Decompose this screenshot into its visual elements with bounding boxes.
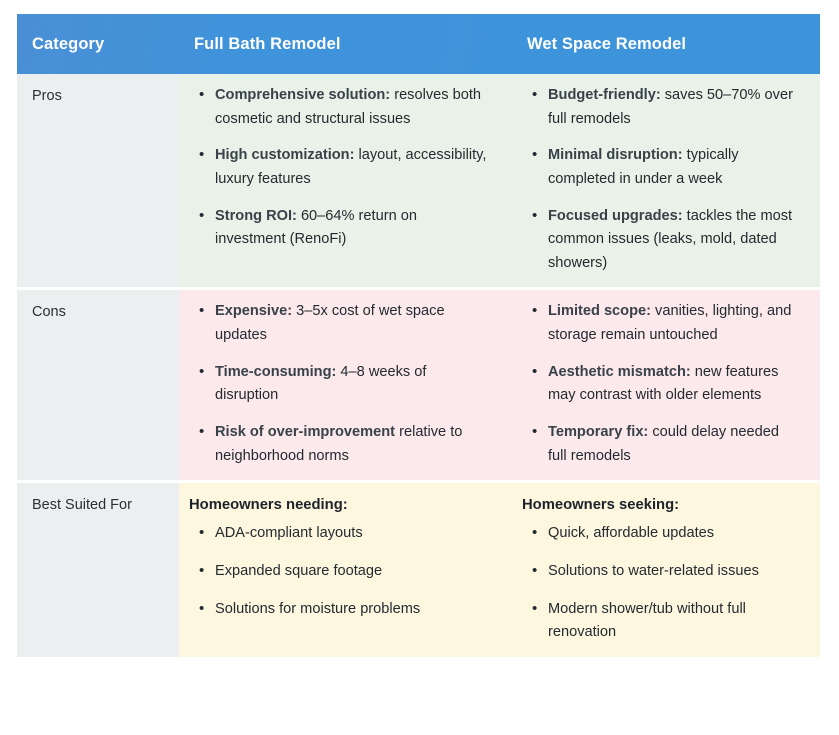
bullet-list: Comprehensive solution: resolves both co… xyxy=(189,84,490,252)
row-label-cons: Cons xyxy=(17,289,179,482)
list-item: Time-consuming: 4–8 weeks of disruption xyxy=(215,361,490,408)
table-row-cons: Cons Expensive: 3–5x cost of wet space u… xyxy=(17,289,820,482)
cell-best-wet-space: Homeowners seeking: Quick, affordable up… xyxy=(512,482,820,657)
table-row-pros: Pros Comprehensive solution: resolves bo… xyxy=(17,74,820,289)
cell-pros-wet-space: Budget-friendly: saves 50–70% over full … xyxy=(512,74,820,289)
list-item: Budget-friendly: saves 50–70% over full … xyxy=(548,84,798,131)
list-item: Strong ROI: 60–64% return on investment … xyxy=(215,205,490,252)
list-item: Comprehensive solution: resolves both co… xyxy=(215,84,490,131)
comparison-table: Category Full Bath Remodel Wet Space Rem… xyxy=(17,14,820,657)
table-header: Category Full Bath Remodel Wet Space Rem… xyxy=(17,14,820,74)
table-body: Pros Comprehensive solution: resolves bo… xyxy=(17,74,820,657)
list-item: High customization: layout, accessibilit… xyxy=(215,144,490,191)
bullet-label: Focused upgrades: xyxy=(548,208,683,224)
header-row: Category Full Bath Remodel Wet Space Rem… xyxy=(17,14,820,74)
cell-best-full-bath: Homeowners needing: ADA-compliant layout… xyxy=(179,482,512,657)
list-item: Risk of over-improvement relative to nei… xyxy=(215,421,490,468)
list-item: Minimal disruption: typically completed … xyxy=(548,144,798,191)
comparison-table-container: Category Full Bath Remodel Wet Space Rem… xyxy=(17,14,820,657)
cell-pros-full-bath: Comprehensive solution: resolves both co… xyxy=(179,74,512,289)
bullet-label: Time-consuming: xyxy=(215,364,336,380)
bullet-list: Budget-friendly: saves 50–70% over full … xyxy=(522,84,798,275)
list-item: Modern shower/tub without full renovatio… xyxy=(548,598,798,645)
bullet-label: Minimal disruption: xyxy=(548,147,683,163)
column-header-category: Category xyxy=(17,14,179,74)
row-label-best-suited-for: Best Suited For xyxy=(17,482,179,657)
list-item: Temporary fix: could delay needed full r… xyxy=(548,421,798,468)
subheading: Homeowners seeking: xyxy=(522,497,798,513)
bullet-list: Limited scope: vanities, lighting, and s… xyxy=(522,300,798,468)
cell-cons-wet-space: Limited scope: vanities, lighting, and s… xyxy=(512,289,820,482)
bullet-label: Expensive: xyxy=(215,303,292,319)
bullet-label: Aesthetic mismatch: xyxy=(548,364,691,380)
list-item: ADA-compliant layouts xyxy=(215,522,490,546)
bullet-label: Comprehensive solution: xyxy=(215,87,390,103)
list-item: Solutions to water-related issues xyxy=(548,560,798,584)
table-row-best-suited-for: Best Suited For Homeowners needing: ADA-… xyxy=(17,482,820,657)
bullet-label: Temporary fix: xyxy=(548,424,648,440)
subheading: Homeowners needing: xyxy=(189,497,490,513)
column-header-wet-space: Wet Space Remodel xyxy=(512,14,820,74)
bullet-label: Strong ROI: xyxy=(215,208,297,224)
bullet-list: Quick, affordable updates Solutions to w… xyxy=(522,522,798,645)
row-label-pros: Pros xyxy=(17,74,179,289)
column-header-full-bath: Full Bath Remodel xyxy=(179,14,512,74)
list-item: Quick, affordable updates xyxy=(548,522,798,546)
list-item: Expanded square footage xyxy=(215,560,490,584)
list-item: Focused upgrades: tackles the most commo… xyxy=(548,205,798,276)
bullet-label: Budget-friendly: xyxy=(548,87,661,103)
bullet-list: Expensive: 3–5x cost of wet space update… xyxy=(189,300,490,468)
bullet-label: High customization: xyxy=(215,147,354,163)
list-item: Solutions for moisture problems xyxy=(215,598,490,622)
list-item: Expensive: 3–5x cost of wet space update… xyxy=(215,300,490,347)
list-item: Aesthetic mismatch: new features may con… xyxy=(548,361,798,408)
cell-cons-full-bath: Expensive: 3–5x cost of wet space update… xyxy=(179,289,512,482)
bullet-list: ADA-compliant layouts Expanded square fo… xyxy=(189,522,490,621)
bullet-label: Limited scope: xyxy=(548,303,651,319)
bullet-label: Risk of over-improvement xyxy=(215,424,395,440)
list-item: Limited scope: vanities, lighting, and s… xyxy=(548,300,798,347)
